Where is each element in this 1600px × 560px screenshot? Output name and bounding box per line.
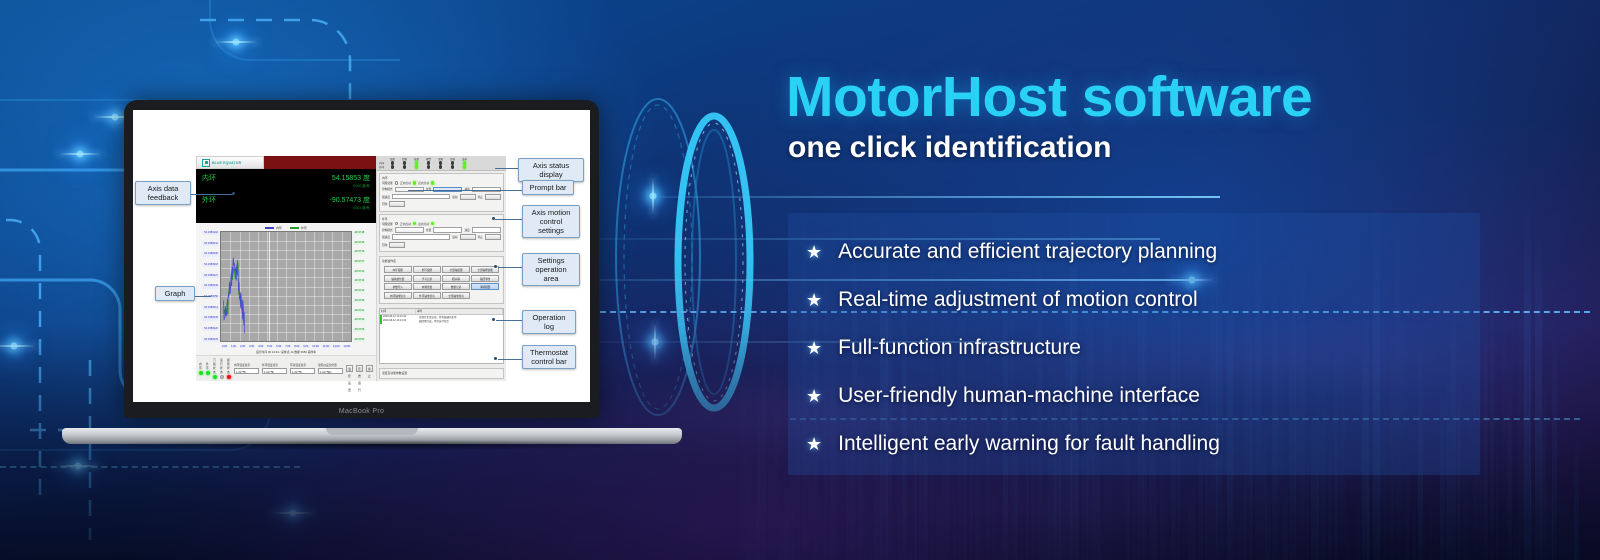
y-axis-tick: -90.5744: [353, 270, 365, 274]
callout-leader: [495, 168, 518, 169]
control-label: 控制模式: [382, 228, 393, 232]
control-label: 伺服使能: [382, 181, 393, 185]
readout-label: 外环: [202, 195, 216, 205]
axis-grid-row-label: 外环: [379, 165, 386, 169]
settings-operation-area-panel: 功能操作区 内环使能外环使能全部轴使能全部轴断使能轴系统位置学习记录相关联轴回零…: [379, 256, 504, 304]
status-bar-button[interactable]: 停止: [366, 365, 373, 372]
temperature-field-value[interactable]: 1.00 ℃: [290, 368, 315, 374]
app-brand-bar: BLUE EQUATOR: [196, 156, 376, 169]
status-bar-button[interactable]: 温控设置: [346, 365, 353, 372]
callout-leader-dot: [494, 357, 497, 360]
log-header-event: 事件: [416, 309, 503, 314]
callout-leader: [498, 359, 522, 360]
control-button[interactable]: [460, 234, 476, 240]
control-row: 伺服使能正向点动反向点动: [382, 181, 501, 185]
control-row: 加速度运动停止: [382, 234, 501, 240]
y-axis-tick: 54.1580018: [203, 263, 219, 267]
control-label: 正向点动: [400, 181, 411, 185]
axis-status-cell: [459, 161, 470, 164]
axis-status-cell: [399, 165, 410, 168]
status-led-icon: [451, 161, 454, 164]
temperature-field-label: 环境温度显示: [290, 363, 315, 367]
x-axis-tick: 6:00: [276, 345, 282, 348]
y-axis-tick: -90.5743: [353, 279, 365, 283]
operation-button[interactable]: 全部轴零显示: [442, 292, 470, 299]
y-axis-tick: -90.5739: [353, 328, 365, 332]
control-label: 运动: [452, 235, 457, 239]
callout-label: Axis motion control settings: [532, 208, 571, 235]
page-subtitle: one click identification: [788, 131, 1548, 165]
control-label: 反向点动: [418, 222, 429, 226]
control-row: 加速度运动停止: [382, 194, 501, 200]
control-label: 正向点动: [400, 222, 411, 226]
x-axis-tick: 9:00: [303, 345, 309, 348]
status-indicator: 门锁状态: [213, 358, 217, 379]
operation-button[interactable]: 外环轴零显示: [413, 292, 441, 299]
x-axis-tick: 12:00: [333, 345, 341, 348]
y-axis-tick: 54.1580022: [203, 327, 219, 331]
chart-traces: [221, 232, 351, 341]
control-input[interactable]: [392, 234, 450, 240]
temperature-field-value[interactable]: 1.00 ℃: [262, 368, 287, 374]
star-icon: ★: [806, 243, 822, 261]
callout-thermostat-control-bar: Thermostat control bar: [522, 345, 576, 369]
feature-list: ★Accurate and efficient trajectory plann…: [806, 228, 1506, 468]
status-led-icon: [415, 165, 418, 168]
y-axis-tick: 54.1580035: [203, 316, 219, 320]
axis-status-cell: [459, 165, 470, 168]
callout-leader: [191, 194, 234, 195]
control-label: 位置: [426, 228, 431, 232]
temperature-field-label: 外环温度显示: [262, 363, 287, 367]
readout-value: 54.15853 度: [332, 175, 370, 182]
temperature-field: 外环温度显示1.00 ℃: [262, 363, 287, 374]
operation-button[interactable]: 学习记录: [413, 275, 441, 282]
feature-list-item-label: Real-time adjustment of motion control: [838, 288, 1198, 312]
x-axis-tick: 8:00: [294, 345, 300, 348]
axis-control-group-title: 外环: [382, 217, 501, 221]
control-label: 伺服使能: [382, 222, 393, 226]
callout-settings-operation-area: Settings operation area: [522, 253, 580, 286]
callout-label: Operation log: [533, 313, 566, 331]
status-led-icon: [391, 165, 394, 168]
temperature-field: 温控仪设定位置1.00 ℃/s: [318, 363, 343, 374]
status-indicator: 外环: [206, 362, 210, 375]
status-indicator-label: 门锁状态: [213, 358, 217, 374]
status-indicator: 运行状态: [220, 358, 224, 379]
star-icon: ★: [806, 291, 822, 309]
status-led-icon: [391, 161, 394, 164]
brand-name: BLUE EQUATOR: [212, 161, 241, 165]
log-event: 轴回零完成，等待运行指令: [418, 319, 503, 324]
control-button[interactable]: [485, 234, 501, 240]
status-led-icon: [213, 375, 217, 379]
status-led-icon: [403, 165, 406, 168]
readout-label: 内环: [202, 173, 216, 183]
temperature-field-value[interactable]: 1.00 ℃/s: [318, 368, 343, 374]
callout-graph: Graph: [155, 286, 195, 301]
axis-control-group-title: 内环: [382, 176, 501, 180]
readout-rate: 0.000 度/秒: [353, 184, 370, 188]
operation-button[interactable]: 轴系统位置: [384, 275, 412, 282]
x-axis-tick: 5:00: [267, 345, 273, 348]
x-axis-tick: 3:00: [249, 345, 255, 348]
control-label: 控制模式: [382, 187, 393, 191]
operation-button[interactable]: 外环使能: [413, 266, 441, 273]
callout-leader-dot: [232, 192, 235, 195]
control-label: 加速度: [382, 235, 390, 239]
status-led-icon: [220, 375, 224, 379]
callout-label: Prompt bar: [529, 183, 566, 192]
x-axis-tick: 13:00: [343, 345, 351, 348]
control-button[interactable]: [389, 242, 405, 248]
control-row: 伺服使能正向点动反向点动: [382, 222, 501, 226]
legend-item: 外环: [290, 226, 307, 230]
callout-label: Axis data feedback: [148, 184, 179, 202]
star-icon: ★: [806, 387, 822, 405]
axis-status-cell: [387, 165, 398, 168]
operation-button[interactable]: 末端位姿: [413, 283, 441, 290]
chart-plot-area[interactable]: [220, 231, 352, 342]
log-header-time: 时间: [380, 309, 416, 314]
y-axis-tick: -90.5740: [353, 318, 365, 322]
temperature-field-label: 内环温度显示: [234, 363, 259, 367]
chart-x-axis: 0:001:002:003:004:005:006:007:008:009:00…: [198, 342, 374, 350]
status-led-icon: [463, 165, 466, 168]
app-left-column: BLUE EQUATOR 内环 54.15853 度 0.000 度/秒: [196, 156, 376, 381]
axis-status-cell: [447, 165, 458, 168]
y-axis-tick: -90.5745: [353, 241, 365, 245]
control-label: 速度: [464, 228, 469, 232]
callout-label: Graph: [165, 289, 186, 298]
status-indicator: 内环: [199, 362, 203, 375]
control-input[interactable]: [433, 227, 462, 233]
status-led-icon: [227, 375, 231, 379]
x-axis-tick: 4:00: [258, 345, 264, 348]
callout-prompt-bar: Prompt bar: [522, 180, 574, 195]
page-title: MotorHost software: [786, 64, 1546, 130]
operation-button[interactable]: 内环使能: [384, 266, 412, 273]
readout-value: -90.57473 度: [330, 197, 370, 204]
status-led-icon: [206, 371, 210, 375]
callout-axis-status-display: Axis status display: [518, 158, 584, 182]
feature-list-item: ★Accurate and efficient trajectory plann…: [806, 228, 1506, 276]
status-indicator-label: 运行状态: [220, 358, 224, 374]
callout-leader: [408, 190, 522, 191]
log-row: 2023-06-12 10:41:44轴回零完成，等待运行指令: [380, 319, 503, 324]
operation-button[interactable]: 清除报警: [471, 283, 499, 290]
operation-button[interactable]: 轴回零位: [471, 275, 499, 282]
thermostat-title: 温度及功能参数设置: [382, 371, 501, 375]
operation-button[interactable]: 全部轴使能: [442, 266, 470, 273]
operation-button[interactable]: 内环轴零显示: [384, 292, 412, 299]
status-led-icon: [413, 222, 416, 225]
y-axis-tick: -90.5747: [353, 260, 365, 264]
feature-list-item-label: Full-function infrastructure: [838, 336, 1081, 360]
callout-leader-dot: [494, 265, 497, 268]
temperature-field: 环境温度显示1.00 ℃: [290, 363, 315, 374]
axis-motion-control-groups: 内环伺服使能正向点动反向点动控制模式位置速度加速度运动停止回零外环伺服使能正向点…: [377, 171, 506, 254]
axis-status-cell: [435, 165, 446, 168]
axis-control-group: 内环伺服使能正向点动反向点动控制模式位置速度加速度运动停止回零: [379, 173, 504, 212]
status-led-icon: [415, 161, 418, 164]
callout-leader: [496, 320, 522, 321]
hero-banner: BLUE EQUATOR 内环 54.15853 度 0.000 度/秒: [0, 0, 1600, 560]
y-axis-tick: -90.5749: [353, 299, 365, 303]
y-axis-tick: -90.5741: [353, 309, 365, 313]
axis-status-cell: [399, 161, 410, 164]
y-axis-tick: 54.1580027: [203, 274, 219, 278]
legend-item: 内环: [265, 226, 282, 230]
callout-leader-dot: [492, 318, 495, 321]
control-row: 回零: [382, 242, 501, 248]
blue-equator-logo-icon: [202, 159, 210, 167]
thermostat-settings-panel: 温度及功能参数设置: [379, 368, 504, 379]
axis-status-cell: [411, 161, 422, 164]
control-input[interactable]: [392, 194, 450, 200]
status-bar-button[interactable]: 开始运行: [356, 365, 363, 372]
status-led-icon: [431, 181, 434, 184]
axis-status-cell: [435, 161, 446, 164]
x-axis-tick: 2:00: [240, 345, 246, 348]
control-row: 回零: [382, 201, 501, 207]
status-led-icon: [413, 181, 416, 184]
log-rows: 2023-06-12 10:41:42控制台正常启动，所有轴通讯正常2023-0…: [380, 315, 503, 324]
y-axis-tick: -90.5748: [353, 231, 365, 235]
control-row: 控制模式位置速度: [382, 227, 501, 233]
status-led-icon: [199, 371, 203, 375]
chart-y-axis-right: -90.5748-90.5745-90.5746-90.5747-90.5744…: [352, 231, 374, 342]
brand-logo: BLUE EQUATOR: [196, 156, 264, 169]
status-led-icon: [451, 165, 454, 168]
axis-status-grid: 使能回零就绪报警正限负限急停内环外环: [377, 156, 506, 171]
temperature-field-value[interactable]: 1.00 ℃: [234, 368, 259, 374]
readout-values: 54.15853 度 0.000 度/秒: [332, 173, 370, 188]
feature-list-item: ★User-friendly human-machine interface: [806, 372, 1506, 420]
callout-operation-log: Operation log: [522, 310, 576, 334]
callout-leader: [498, 267, 522, 268]
status-indicator-label: 内环: [199, 362, 203, 370]
operation-area-title: 功能操作区: [382, 259, 501, 263]
operation-button-grid: 内环使能外环使能全部轴使能全部轴断使能轴系统位置学习记录相关联轴回零位参数导入末…: [382, 264, 501, 301]
control-label: 停止: [478, 235, 483, 239]
control-label: 加速度: [382, 195, 390, 199]
feature-list-item: ★Real-time adjustment of motion control: [806, 276, 1506, 324]
status-led-icon: [427, 165, 430, 168]
axis-status-cell: [423, 161, 434, 164]
x-axis-tick: 11:00: [322, 345, 329, 348]
star-icon: ★: [806, 435, 822, 453]
operation-button[interactable]: 相关联: [442, 275, 470, 282]
operation-log-table: 时间 事件 2023-06-12 10:41:42控制台正常启动，所有轴通讯正常…: [379, 308, 504, 365]
y-axis-tick: 54.1580039: [203, 284, 219, 288]
control-button[interactable]: [460, 194, 476, 200]
feature-list-item-label: Accurate and efficient trajectory planni…: [838, 240, 1217, 264]
legend-label: 内环: [276, 226, 282, 230]
status-led-icon: [431, 222, 434, 225]
status-led-icon: [439, 165, 442, 168]
chart-y-axis-left: 54.158010254.158004154.158000654.1580018…: [198, 231, 220, 342]
axis-control-group: 外环伺服使能正向点动反向点动控制模式位置速度加速度运动停止回零: [379, 214, 504, 253]
y-axis-tick: 54.1580041: [203, 242, 219, 246]
readout-row: 外环 -90.57473 度 0.001 度/秒: [202, 195, 370, 210]
radio-button[interactable]: [395, 181, 398, 184]
x-axis-tick: 1:00: [231, 345, 237, 348]
axis-data-readout: 内环 54.15853 度 0.000 度/秒 外环 -90.57473 度: [196, 169, 376, 223]
callout-leader: [495, 219, 522, 220]
operation-button[interactable]: 参数导入: [384, 283, 412, 290]
laptop-mockup: BLUE EQUATOR 内环 54.15853 度 0.000 度/秒: [62, 100, 682, 450]
control-label: 回零: [382, 202, 387, 206]
log-time: 2023-06-12 10:41:44: [382, 319, 418, 324]
y-axis-tick: 54.1580006: [203, 252, 219, 256]
legend-label: 外环: [301, 226, 307, 230]
callout-leader-dot: [492, 217, 495, 220]
temperature-field-label: 温控仪设定位置: [318, 363, 343, 367]
x-axis-tick: 0:00: [221, 345, 227, 348]
x-axis-tick: 7:00: [285, 345, 291, 348]
callout-label: Settings operation area: [535, 256, 566, 283]
control-select[interactable]: [395, 227, 424, 233]
callout-axis-motion-control-settings: Axis motion control settings: [522, 205, 580, 238]
y-axis-tick: -90.5742: [353, 289, 365, 293]
y-axis-tick: 54.1580014: [203, 306, 219, 310]
status-led-icon: [439, 161, 442, 164]
callout-leader: [195, 296, 211, 297]
axis-status-cell: [423, 165, 434, 168]
laptop-shadow: [82, 440, 662, 450]
feature-list-item-label: Intelligent early warning for fault hand…: [838, 432, 1220, 456]
axis-status-cell: [447, 161, 458, 164]
readout-rate: 0.001 度/秒: [353, 206, 370, 210]
axis-status-cell: [411, 165, 422, 168]
thermostat-status-bar: 内环外环门锁状态运行状态报警状态内环温度显示1.00 ℃外环温度显示1.00 ℃…: [196, 355, 376, 381]
callout-label: Axis status display: [533, 161, 569, 179]
trend-chart: 内环 外环 54.158010254.158004154.158000654.1…: [196, 223, 376, 355]
laptop-bezel-label: MacBook Pro: [124, 408, 599, 415]
feature-list-item: ★Full-function infrastructure: [806, 324, 1506, 372]
control-label: 回零: [382, 243, 387, 247]
callout-axis-data-feedback: Axis data feedback: [135, 181, 191, 205]
feature-list-item-label: User-friendly human-machine interface: [838, 384, 1200, 408]
control-button[interactable]: [389, 201, 405, 207]
status-led-icon: [463, 161, 466, 164]
axis-grid-row: 外环: [379, 165, 504, 169]
status-indicator-label: 报警状态: [227, 358, 231, 374]
status-led-icon: [427, 161, 430, 164]
y-axis-tick: -90.5746: [353, 250, 365, 254]
status-indicator: 报警状态: [227, 358, 231, 379]
callout-label: Thermostat control bar: [530, 348, 568, 366]
status-indicator-label: 外环: [206, 362, 210, 370]
axis-status-cell: [387, 161, 398, 164]
chart-plot-row: 54.158010254.158004154.158000654.1580018…: [198, 231, 374, 342]
operation-button[interactable]: 数据记录: [442, 283, 470, 290]
star-icon: ★: [806, 339, 822, 357]
readout-row: 内环 54.15853 度 0.000 度/秒: [202, 173, 370, 188]
y-axis-tick: 54.1580102: [203, 231, 219, 235]
status-led-icon: [403, 161, 406, 164]
control-button[interactable]: [485, 194, 501, 200]
readout-values: -90.57473 度 0.001 度/秒: [330, 195, 370, 210]
radio-button[interactable]: [395, 222, 398, 225]
control-label: 停止: [478, 195, 483, 199]
feature-list-item: ★Intelligent early warning for fault han…: [806, 420, 1506, 468]
app-title-bar: [264, 156, 376, 169]
control-label: 反向点动: [418, 181, 429, 185]
temperature-field: 内环温度显示1.00 ℃: [234, 363, 259, 374]
control-label: 运动: [452, 195, 457, 199]
control-input[interactable]: [472, 227, 501, 233]
x-axis-tick: 10:00: [312, 345, 320, 348]
